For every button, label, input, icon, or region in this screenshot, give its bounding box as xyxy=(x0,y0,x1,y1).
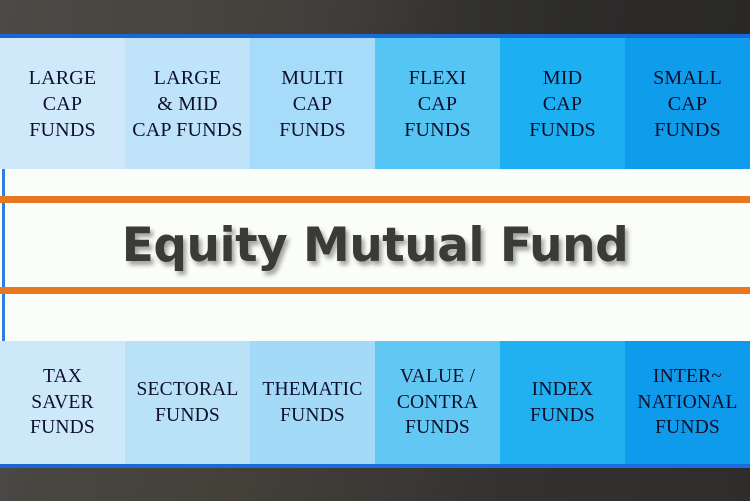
fund-cell-large-cap[interactable]: LARGECAPFUNDS xyxy=(0,38,125,169)
slide-canvas: LARGECAPFUNDS LARGE& MIDCAP FUNDS MULTIC… xyxy=(0,0,750,501)
fund-cell-flexi-cap[interactable]: FLEXICAPFUNDS xyxy=(375,38,500,169)
fund-cell-large-and-mid-cap[interactable]: LARGE& MIDCAP FUNDS xyxy=(125,38,250,169)
fund-cell-label: TAXSAVERFUNDS xyxy=(30,364,95,440)
fund-category-row-bottom: TAXSAVERFUNDS SECTORALFUNDS THEMATICFUND… xyxy=(0,341,750,464)
fund-cell-label: MULTICAPFUNDS xyxy=(279,65,346,143)
fund-cell-index[interactable]: INDEXFUNDS xyxy=(500,341,625,464)
fund-cell-mid-cap[interactable]: MIDCAPFUNDS xyxy=(500,38,625,169)
orange-rule-above-title xyxy=(0,196,750,203)
orange-rule-below-title xyxy=(0,287,750,294)
page-title: Equity Mutual Fund xyxy=(0,203,750,287)
fund-cell-label: VALUE /CONTRAFUNDS xyxy=(397,364,478,440)
fund-cell-label: LARGECAPFUNDS xyxy=(29,65,97,143)
fund-cell-thematic[interactable]: THEMATICFUNDS xyxy=(250,341,375,464)
fund-cell-label: INTER~NATIONALFUNDS xyxy=(637,364,737,440)
fund-cell-label: SECTORALFUNDS xyxy=(136,377,238,428)
fund-cell-international[interactable]: INTER~NATIONALFUNDS xyxy=(625,341,750,464)
fund-cell-small-cap[interactable]: SMALLCAPFUNDS xyxy=(625,38,750,169)
fund-cell-label: THEMATICFUNDS xyxy=(262,377,362,428)
fund-cell-multi-cap[interactable]: MULTICAPFUNDS xyxy=(250,38,375,169)
fund-cell-label: MIDCAPFUNDS xyxy=(529,65,596,143)
fund-cell-sectoral[interactable]: SECTORALFUNDS xyxy=(125,341,250,464)
fund-cell-label: FLEXICAPFUNDS xyxy=(404,65,471,143)
fund-cell-label: LARGE& MIDCAP FUNDS xyxy=(132,65,243,143)
fund-cell-label: SMALLCAPFUNDS xyxy=(653,65,722,143)
fund-category-row-top: LARGECAPFUNDS LARGE& MIDCAP FUNDS MULTIC… xyxy=(0,38,750,169)
top-dark-band xyxy=(0,0,750,36)
fund-cell-tax-saver[interactable]: TAXSAVERFUNDS xyxy=(0,341,125,464)
fund-cell-value-contra[interactable]: VALUE /CONTRAFUNDS xyxy=(375,341,500,464)
bottom-dark-band xyxy=(0,468,750,501)
fund-cell-label: INDEXFUNDS xyxy=(530,377,595,428)
